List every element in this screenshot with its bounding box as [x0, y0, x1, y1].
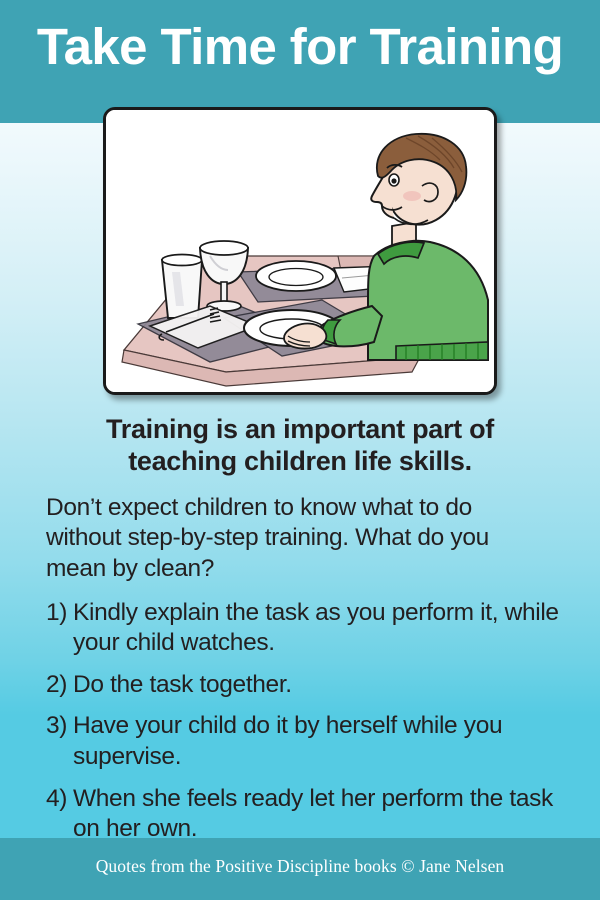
footer-credit: Quotes from the Positive Discipline book… — [0, 856, 600, 877]
step-text: Do the task together. — [73, 670, 560, 701]
step-number: 4) — [46, 784, 73, 845]
subtitle: Training is an important part of teachin… — [55, 414, 545, 478]
step-text: Have your child do it by herself while y… — [73, 711, 560, 772]
steps-list: 1) Kindly explain the task as you perfor… — [0, 598, 600, 845]
content-block: Training is an important part of teachin… — [0, 414, 600, 856]
step-text: Kindly explain the task as you perform i… — [73, 598, 560, 659]
step-number: 1) — [46, 598, 73, 659]
step-number: 2) — [46, 670, 73, 701]
tumbler-glass — [162, 255, 202, 319]
list-item: 2) Do the task together. — [0, 670, 600, 701]
body-paragraph: Don’t expect children to know what to do… — [0, 493, 600, 585]
page-title: Take Time for Training — [0, 21, 600, 72]
footer-band: Quotes from the Positive Discipline book… — [0, 838, 600, 900]
poster: Take Time for Training — [0, 0, 600, 900]
step-text: When she feels ready let her perform the… — [73, 784, 560, 845]
list-item: 3) Have your child do it by herself whil… — [0, 711, 600, 772]
list-item: 4) When she feels ready let her perform … — [0, 784, 600, 845]
illustration-card — [103, 107, 497, 395]
header-band: Take Time for Training — [0, 0, 600, 123]
step-number: 3) — [46, 711, 73, 772]
back-plate — [256, 261, 336, 291]
list-item: 1) Kindly explain the task as you perfor… — [0, 598, 600, 659]
table-setting-illustration — [106, 110, 494, 392]
